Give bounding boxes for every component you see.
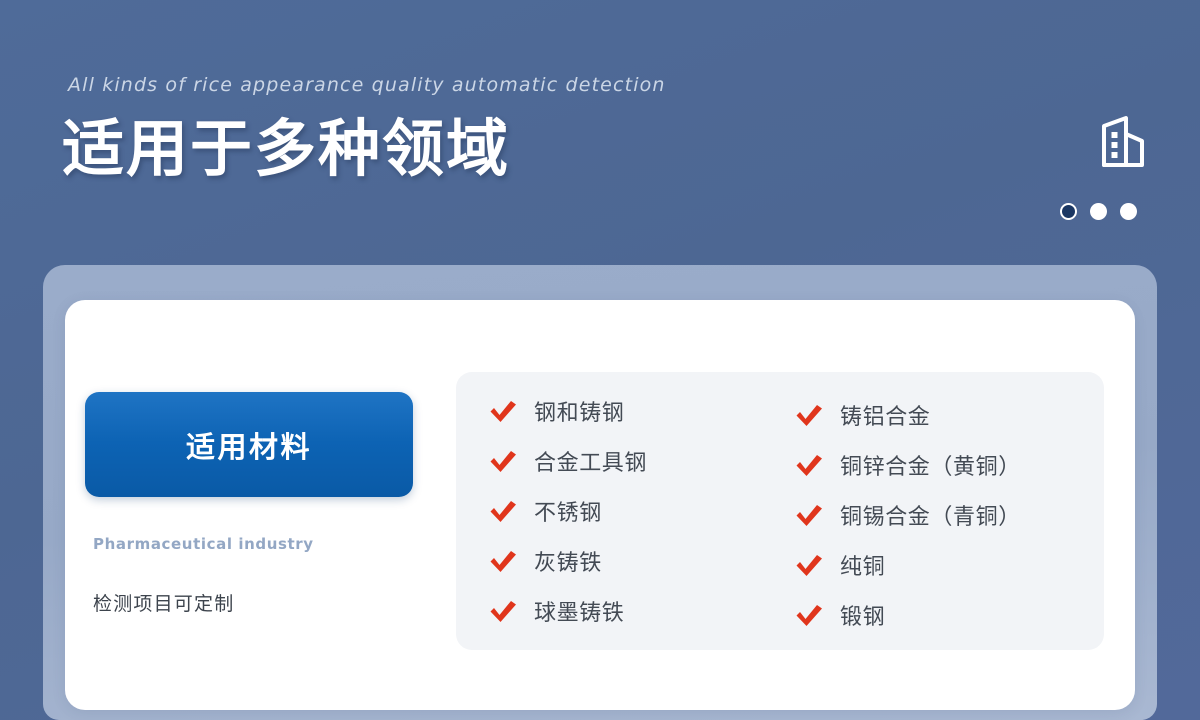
list-item: 球墨铸铁: [488, 586, 776, 636]
building-icon: [1092, 112, 1154, 174]
list-item: 灰铸铁: [488, 536, 776, 586]
check-icon: [488, 398, 518, 424]
carousel-dots[interactable]: [1060, 203, 1137, 220]
check-icon: [488, 548, 518, 574]
check-icon: [794, 502, 824, 528]
list-item-label: 钢和铸钢: [534, 395, 624, 427]
materials-list-panel: 钢和铸钢 合金工具钢 不锈钢 灰铸铁 球墨铸铁: [456, 372, 1104, 650]
list-item: 不锈钢: [488, 486, 776, 536]
carousel-dot-2[interactable]: [1090, 203, 1107, 220]
header-eyebrow: All kinds of rice appearance quality aut…: [68, 74, 666, 96]
list-item: 合金工具钢: [488, 436, 776, 486]
list-item: 铜锌合金（黄铜）: [794, 440, 1104, 490]
list-item: 钢和铸钢: [488, 386, 776, 436]
list-item-label: 铜锡合金（青铜）: [840, 499, 1021, 531]
check-icon: [794, 602, 824, 628]
page-header: All kinds of rice appearance quality aut…: [0, 0, 1200, 265]
list-item-label: 球墨铸铁: [534, 595, 624, 627]
list-item: 铸铝合金: [794, 390, 1104, 440]
check-icon: [794, 402, 824, 428]
list-item: 纯铜: [794, 540, 1104, 590]
carousel-dot-1[interactable]: [1060, 203, 1077, 220]
list-item-label: 不锈钢: [534, 495, 602, 527]
carousel-dot-3[interactable]: [1120, 203, 1137, 220]
materials-column-left: 钢和铸钢 合金工具钢 不锈钢 灰铸铁 球墨铸铁: [456, 372, 776, 650]
list-item-label: 铸铝合金: [840, 399, 930, 431]
industry-subtitle-en: Pharmaceutical industry: [93, 535, 415, 553]
check-icon: [488, 448, 518, 474]
check-icon: [794, 452, 824, 478]
check-icon: [488, 598, 518, 624]
page-title: 适用于多种领域: [62, 117, 510, 182]
materials-column-right: 铸铝合金 铜锌合金（黄铜） 铜锡合金（青铜） 纯铜 锻钢: [776, 372, 1104, 650]
list-item-label: 合金工具钢: [534, 445, 647, 477]
applicable-materials-button[interactable]: 适用材料: [85, 392, 413, 497]
list-item-label: 纯铜: [840, 549, 885, 581]
customizable-note: 检测项目可定制: [93, 589, 415, 616]
list-item-label: 锻钢: [840, 599, 885, 631]
check-icon: [488, 498, 518, 524]
list-item: 锻钢: [794, 590, 1104, 640]
list-item: 铜锡合金（青铜）: [794, 490, 1104, 540]
left-panel: 适用材料 Pharmaceutical industry 检测项目可定制: [85, 392, 415, 616]
check-icon: [794, 552, 824, 578]
list-item-label: 灰铸铁: [534, 545, 602, 577]
list-item-label: 铜锌合金（黄铜）: [840, 449, 1021, 481]
